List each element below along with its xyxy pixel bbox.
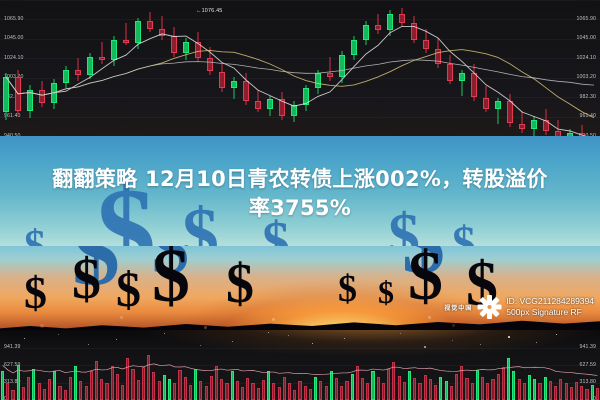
silhouette-dollar-5: $: [226, 256, 254, 312]
sparkle: [88, 344, 89, 345]
headline-title: 翻翻策略 12月10日青农转债上涨002%，转股溢价 率3755%: [0, 165, 600, 223]
bokeh-dot: [40, 324, 44, 328]
ma-line-1: [6, 50, 594, 118]
sparkle: [536, 342, 537, 343]
bokeh-dot: [272, 318, 275, 321]
sparkle: [58, 334, 59, 335]
silhouette-dollar-1: $: [24, 270, 47, 316]
volume-chart-panel: 941.39627.59313.800 941.39627.59313.800: [0, 330, 600, 400]
watermark-cn-label: 视觉中国: [444, 303, 472, 312]
sparkle: [344, 338, 345, 339]
ma-line-0: [6, 26, 594, 139]
silhouette-dollar-3: $: [116, 264, 141, 314]
sparkle: [452, 340, 453, 341]
watermark-id: ID: VCG211284289394: [506, 296, 594, 307]
sparkle: [268, 332, 269, 333]
volume-ma-path: [3, 364, 598, 376]
ma-line-2: [6, 60, 594, 95]
watermark-license: 500px Signature RF: [506, 307, 594, 318]
sparkle: [200, 345, 201, 346]
sparkle: [164, 333, 165, 334]
sparkle: [288, 335, 289, 336]
silhouette-dollar-6: $: [338, 270, 357, 308]
screenshot-root: 1086.801065.901045.001024.101003.20982.3…: [0, 0, 600, 400]
silhouette-dollar-4: $: [152, 246, 190, 314]
watermark-text: ID: VCG211284289394 500px Signature RF: [506, 296, 594, 317]
sparkle: [312, 343, 313, 344]
silhouette-dollar-2: $: [72, 250, 101, 308]
silhouette-dollar-8: $: [408, 246, 443, 312]
watermark-burst-icon: [476, 294, 502, 320]
bokeh-dot: [204, 326, 207, 329]
headline-line-2: 率3755%: [0, 194, 600, 223]
sparkle: [556, 334, 557, 335]
bokeh-dot: [120, 316, 123, 319]
bokeh-dot: [428, 316, 431, 319]
sparkle: [24, 338, 25, 339]
silhouette-dollar-7: $: [378, 276, 394, 308]
sparkle: [400, 333, 401, 334]
sparkle: [508, 336, 510, 338]
price-annotation-label: ←1076.45: [196, 9, 222, 14]
headline-line-1: 翻翻策略 12月10日青农转债上涨002%，转股溢价: [0, 165, 600, 194]
watermark: 视觉中国 ID: VCG211284289394 500px Signature…: [444, 294, 594, 320]
sparkle: [480, 344, 481, 345]
sparkle: [232, 341, 233, 342]
sparkle: [116, 339, 117, 340]
volume-ma-line: [0, 348, 600, 400]
